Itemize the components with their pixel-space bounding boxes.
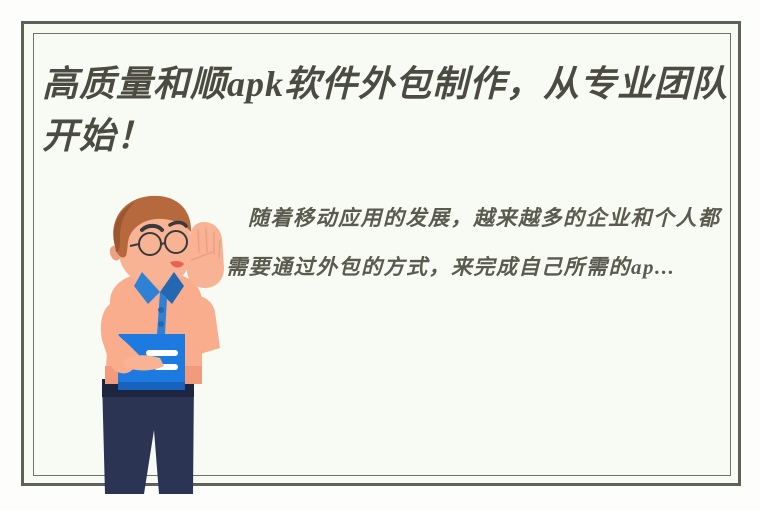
card-content: 高质量和顺apk软件外包制作，从专业团队开始！ bbox=[34, 34, 730, 475]
pants-shape bbox=[102, 379, 194, 494]
body-paragraph: 随着移动应用的发展，越来越多的企业和个人都需要通过外包的方式，来完成自己所需的a… bbox=[226, 194, 736, 292]
decorative-outer-border: 高质量和顺apk软件外包制作，从专业团队开始！ bbox=[21, 21, 741, 486]
illustration-waving-student bbox=[72, 194, 237, 499]
poster-page: 高质量和顺apk软件外包制作，从专业团队开始！ bbox=[0, 0, 760, 510]
decorative-inner-border: 高质量和顺apk软件外包制作，从专业团队开始！ bbox=[33, 33, 731, 476]
page-title: 高质量和顺apk软件外包制作，从专业团队开始！ bbox=[42, 58, 732, 162]
